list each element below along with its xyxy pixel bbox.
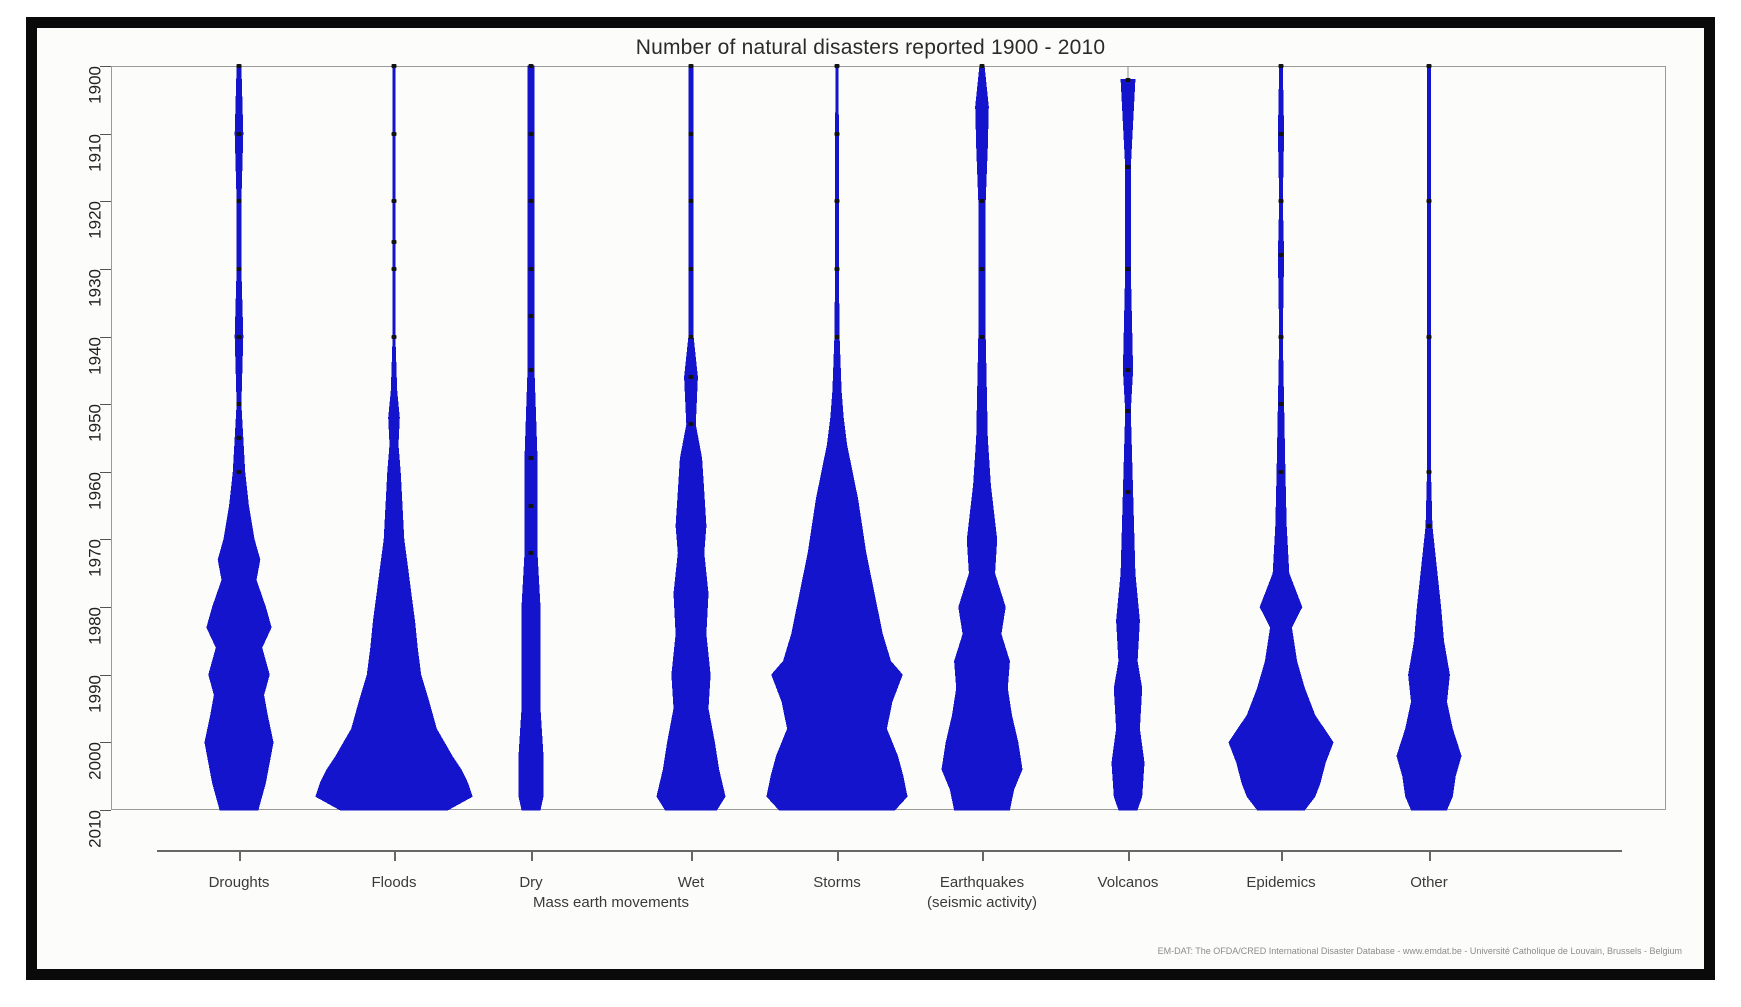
x-axis-tick bbox=[837, 850, 839, 861]
data-point bbox=[835, 64, 840, 68]
x-axis-category-label: Other bbox=[1410, 873, 1448, 893]
data-point bbox=[1427, 64, 1432, 68]
data-point bbox=[980, 64, 985, 68]
data-point bbox=[689, 64, 694, 68]
data-point bbox=[237, 267, 242, 271]
category-name: Earthquakes bbox=[940, 874, 1024, 891]
data-point bbox=[529, 456, 534, 460]
x-axis-tick bbox=[531, 850, 533, 861]
data-point bbox=[1427, 335, 1432, 339]
data-point bbox=[392, 199, 397, 203]
data-point bbox=[529, 132, 534, 136]
data-point bbox=[237, 335, 242, 339]
x-axis-tick bbox=[691, 850, 693, 861]
category-sublabel: (seismic activity) bbox=[927, 893, 1037, 913]
x-axis-category-label: Dry bbox=[519, 873, 542, 893]
y-axis-tick-label: 1980 bbox=[87, 607, 104, 645]
data-point bbox=[237, 402, 242, 406]
data-point bbox=[392, 335, 397, 339]
data-point bbox=[529, 504, 534, 508]
chart-canvas: Number of natural disasters reported 190… bbox=[37, 28, 1704, 969]
x-axis-tick bbox=[239, 850, 241, 861]
data-point bbox=[1126, 267, 1131, 271]
data-point bbox=[237, 199, 242, 203]
category-name: Floods bbox=[371, 874, 416, 891]
y-axis-tick-label: 2010 bbox=[87, 810, 104, 848]
y-axis: 1900191019201930194019501960197019801990… bbox=[37, 28, 111, 969]
y-axis-tick-label: 1920 bbox=[87, 201, 104, 239]
category-name: Epidemics bbox=[1246, 874, 1315, 891]
x-axis-category-label: Epidemics bbox=[1246, 873, 1315, 893]
data-point bbox=[1279, 253, 1284, 257]
data-point bbox=[1126, 78, 1131, 82]
y-axis-tick-label: 1950 bbox=[87, 404, 104, 442]
category-name: Other bbox=[1410, 874, 1448, 891]
data-point bbox=[237, 132, 242, 136]
data-point bbox=[1279, 470, 1284, 474]
category-name: Dry bbox=[519, 874, 542, 891]
data-point bbox=[237, 436, 242, 440]
data-point bbox=[1126, 368, 1131, 372]
data-point bbox=[392, 132, 397, 136]
y-axis-tick-label: 1970 bbox=[87, 539, 104, 577]
x-axis-category-label: Volcanos bbox=[1098, 873, 1159, 893]
x-axis-tick bbox=[1429, 850, 1431, 861]
x-axis-tick bbox=[1128, 850, 1130, 861]
x-axis-category-label: Earthquakes(seismic activity) bbox=[927, 873, 1037, 914]
y-axis-tick-label: 1940 bbox=[87, 337, 104, 375]
data-point bbox=[392, 267, 397, 271]
x-axis-category-label: Floods bbox=[371, 873, 416, 893]
data-point bbox=[529, 551, 534, 555]
data-point bbox=[1427, 524, 1432, 528]
bean-column-other bbox=[1309, 66, 1549, 810]
category-name: Wet bbox=[678, 874, 704, 891]
data-point bbox=[529, 314, 534, 318]
x-axis-category-label: Droughts bbox=[209, 873, 270, 893]
y-axis-tick-label: 1910 bbox=[87, 134, 104, 172]
data-point bbox=[1126, 165, 1131, 169]
y-axis-tick-label: 1990 bbox=[87, 675, 104, 713]
chart-title: Number of natural disasters reported 190… bbox=[37, 36, 1704, 60]
mass-earth-movements-annotation: Mass earth movements bbox=[533, 894, 689, 911]
data-point bbox=[689, 422, 694, 426]
data-point bbox=[980, 335, 985, 339]
data-point bbox=[980, 199, 985, 203]
data-point bbox=[529, 368, 534, 372]
data-point bbox=[689, 267, 694, 271]
data-point bbox=[689, 132, 694, 136]
data-point bbox=[1279, 199, 1284, 203]
x-axis-category-label: Wet bbox=[678, 873, 704, 893]
y-axis-tick-label: 1960 bbox=[87, 472, 104, 510]
data-point bbox=[529, 199, 534, 203]
x-axis-category-label: Storms bbox=[813, 873, 861, 893]
data-point bbox=[392, 64, 397, 68]
source-credit: EM-DAT: The OFDA/CRED International Disa… bbox=[37, 946, 1682, 956]
data-point bbox=[1279, 402, 1284, 406]
data-point bbox=[1279, 335, 1284, 339]
y-axis-tick-label: 2000 bbox=[87, 742, 104, 780]
category-name: Volcanos bbox=[1098, 874, 1159, 891]
data-point bbox=[529, 267, 534, 271]
x-axis-tick bbox=[394, 850, 396, 861]
data-point bbox=[1279, 64, 1284, 68]
x-axis-line bbox=[157, 850, 1622, 852]
data-point bbox=[835, 199, 840, 203]
data-point bbox=[980, 267, 985, 271]
data-point bbox=[689, 335, 694, 339]
data-point bbox=[835, 132, 840, 136]
data-point bbox=[237, 470, 242, 474]
data-point bbox=[1427, 199, 1432, 203]
chart-frame: Number of natural disasters reported 190… bbox=[26, 17, 1715, 980]
data-point bbox=[237, 64, 242, 68]
data-point bbox=[1126, 490, 1131, 494]
data-point bbox=[689, 199, 694, 203]
data-point bbox=[835, 267, 840, 271]
data-point bbox=[1279, 132, 1284, 136]
x-axis-tick bbox=[1281, 850, 1283, 861]
data-point bbox=[835, 335, 840, 339]
category-name: Storms bbox=[813, 874, 861, 891]
x-axis-tick bbox=[982, 850, 984, 861]
data-point bbox=[529, 64, 534, 68]
y-axis-tick-label: 1900 bbox=[87, 66, 104, 104]
category-name: Droughts bbox=[209, 874, 270, 891]
data-point bbox=[1427, 470, 1432, 474]
bean-density-shape bbox=[1309, 66, 1549, 810]
data-point bbox=[392, 240, 397, 244]
y-axis-tick-label: 1930 bbox=[87, 269, 104, 307]
data-point bbox=[689, 375, 694, 379]
data-point bbox=[1126, 409, 1131, 413]
